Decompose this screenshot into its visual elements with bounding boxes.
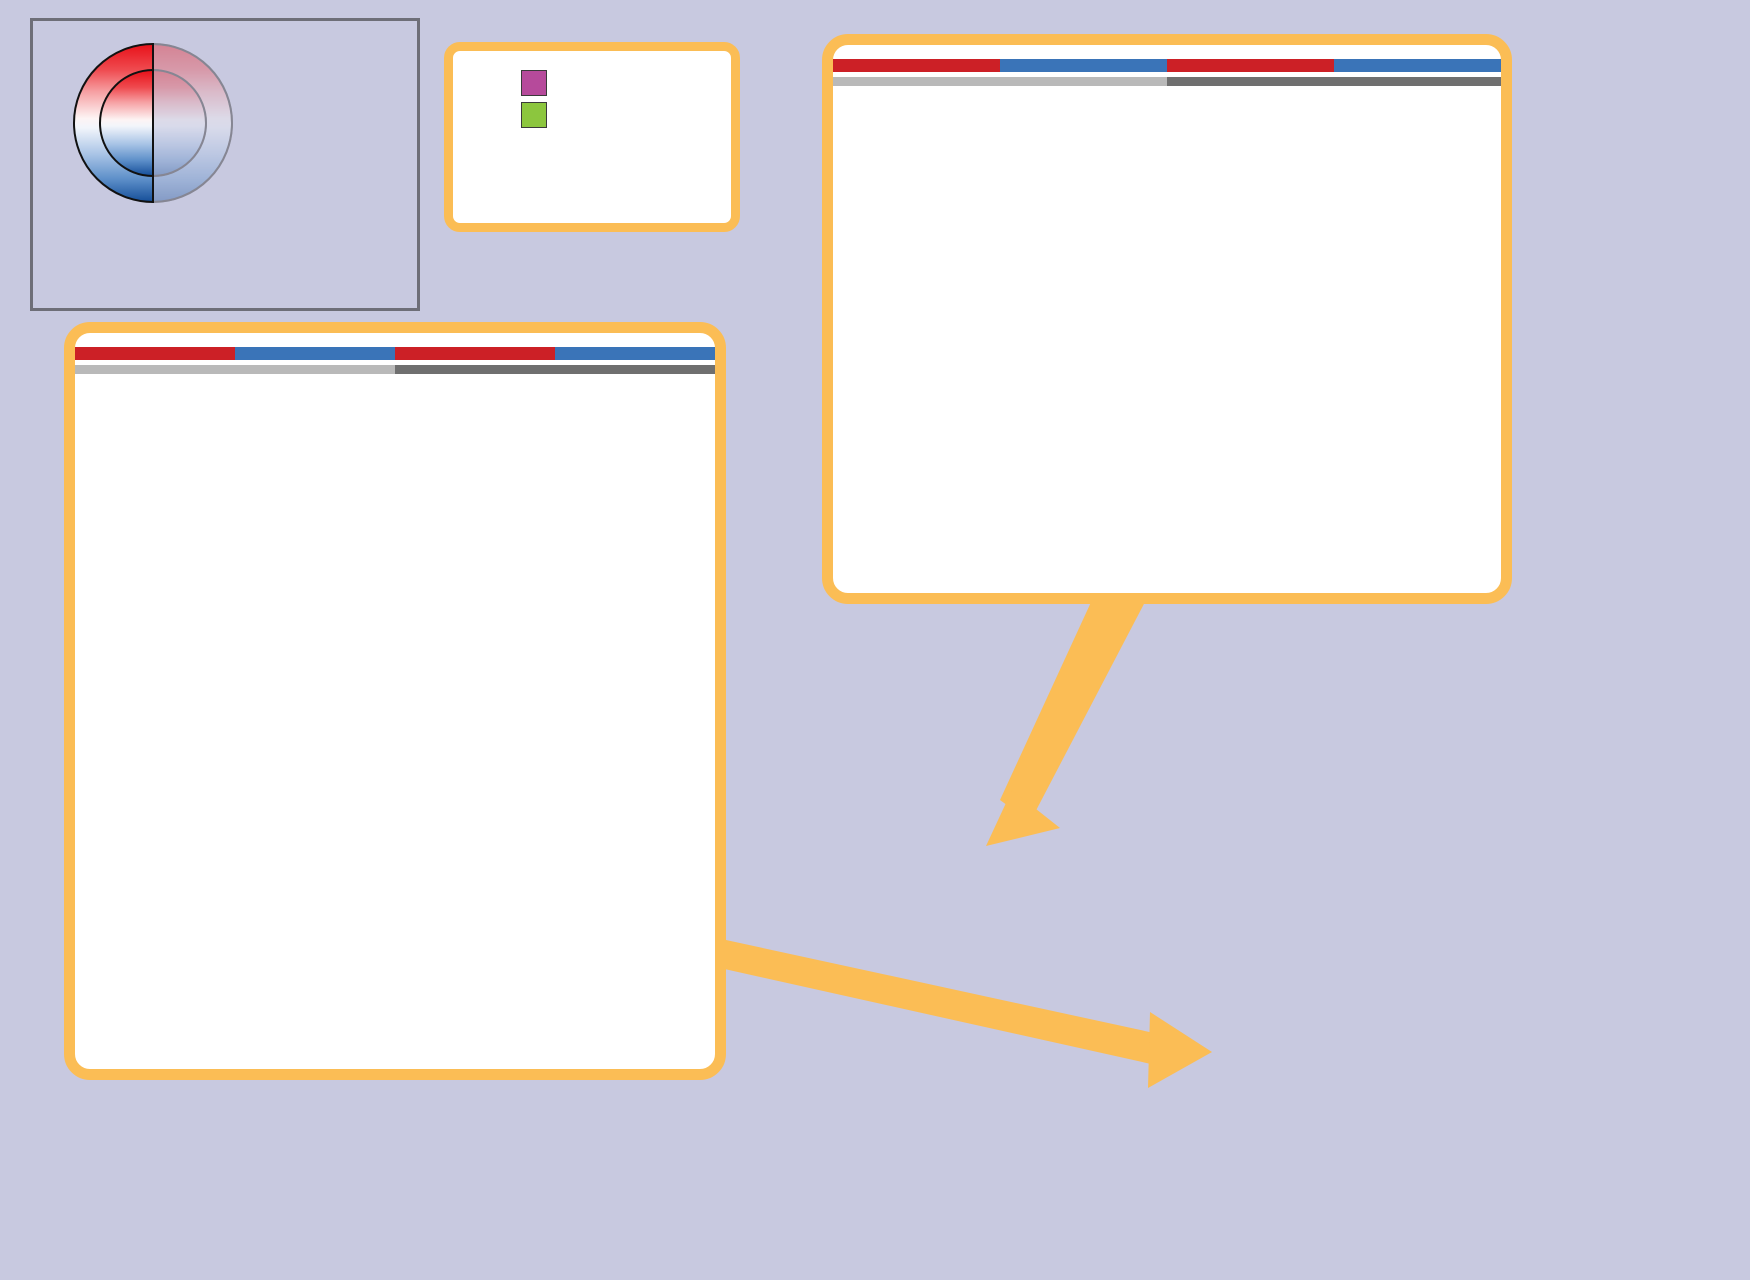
axis-timepoint-bars: [833, 77, 1501, 86]
figure-canvas: [0, 0, 1750, 1279]
axis-condition-bars: [833, 59, 1501, 72]
panel-apc-degradation: [64, 322, 726, 1080]
axis-apc-degradation: [75, 347, 715, 379]
down-color-swatch: [521, 102, 547, 128]
timepoint-bar-24hrs: [1167, 77, 1501, 86]
legend-item-down: [521, 102, 731, 128]
up-color-swatch: [521, 70, 547, 96]
condition-bar-untreated-24: [555, 347, 715, 360]
colorwheel-legend: [30, 18, 420, 311]
condition-bar-untreated-12: [235, 347, 395, 360]
legend-item-up: [521, 70, 731, 96]
axis-replication-fork: [833, 59, 1501, 91]
timepoint-bar-24hrs: [395, 365, 715, 374]
axis-timepoint-bars: [75, 365, 715, 374]
wheel-center-axis: [152, 43, 154, 203]
condition-bar-untreated-12: [1000, 59, 1167, 72]
timepoint-bar-12hrs: [833, 77, 1167, 86]
network-diagram: [790, 620, 1750, 1280]
axis-condition-bars: [75, 347, 715, 360]
condition-bar-treated-24: [395, 347, 555, 360]
timepoint-bar-12hrs: [75, 365, 395, 374]
condition-bar-treated-12: [833, 59, 1000, 72]
panel-replication-fork: [822, 34, 1512, 604]
colorwheel-diagram: [73, 43, 233, 203]
up-down-legend-card: [444, 42, 740, 232]
condition-bar-untreated-24: [1334, 59, 1501, 72]
condition-bar-treated-12: [75, 347, 235, 360]
network-graph: [790, 620, 1750, 1280]
condition-bar-treated-24: [1167, 59, 1334, 72]
